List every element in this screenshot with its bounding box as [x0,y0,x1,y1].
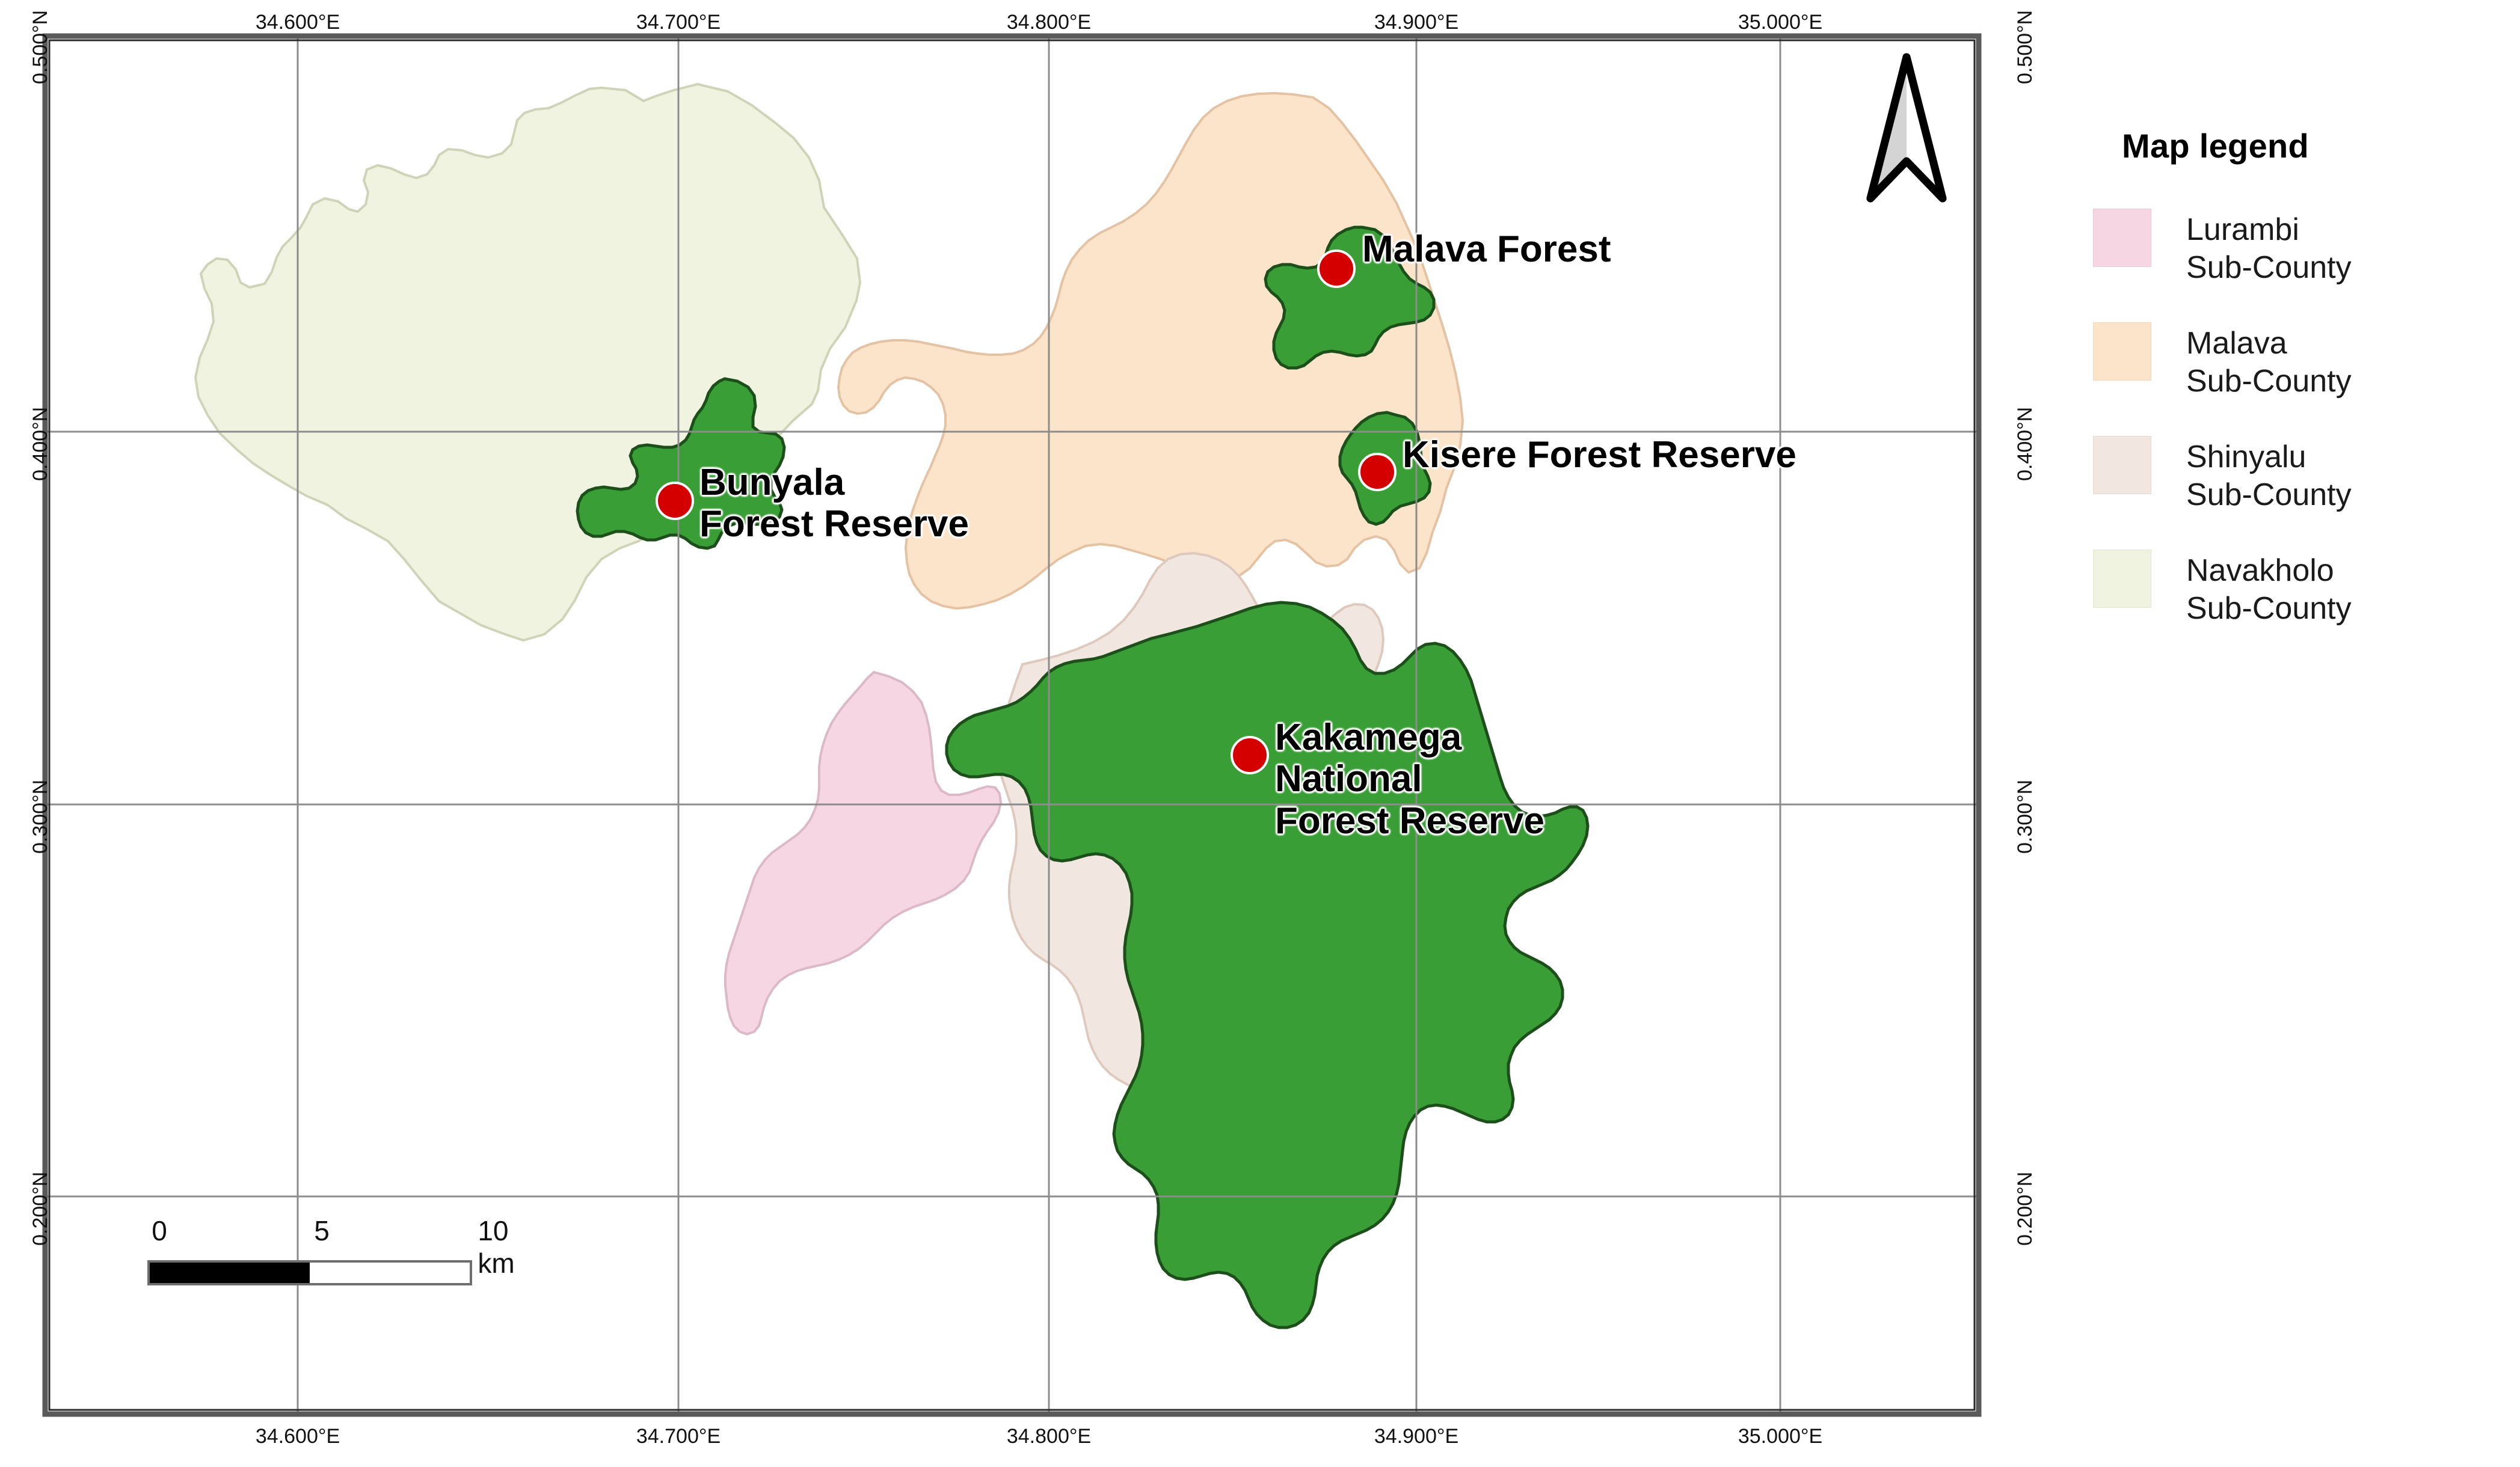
legend-label-navakholo: Navakholo Sub-County [2186,550,2352,628]
legend-item-lurambi[interactable]: Lurambi Sub-County [2093,209,2514,287]
tick-right-1: 0.400°N [2014,407,2037,481]
legend-swatch-lurambi [2093,209,2151,267]
legend-label-shinyalu: Shinyalu Sub-County [2186,436,2352,515]
tick-left-3: 0.200°N [29,1172,52,1246]
tick-right-0: 0.500°N [2014,10,2037,84]
tick-top-1: 34.700°E [636,11,721,34]
map-figure: 34.600°E 34.700°E 34.800°E 34.900°E 35.0… [0,0,2520,1467]
tick-top-0: 34.600°E [256,11,340,34]
legend-item-navakholo[interactable]: Navakholo Sub-County [2093,550,2514,628]
map-label-kakamega-national-forest-reserve: Kakamega National Forest Reserve [1275,717,1544,842]
marker-kisere-forest-reserve[interactable] [1359,454,1395,490]
tick-top-2: 34.800°E [1007,11,1091,34]
scale-tick-5: 5 [314,1214,330,1247]
scale-bar-labels: 0 5 10 km [147,1214,472,1249]
legend-swatch-navakholo [2093,550,2151,608]
tick-right-2: 0.300°N [2014,780,2037,854]
marker-bunyala-forest-reserve[interactable] [657,483,693,519]
legend-swatch-malava [2093,322,2151,381]
tick-top-3: 34.900°E [1374,11,1458,34]
scale-bar-track [147,1260,472,1285]
tick-bottom-1: 34.700°E [636,1425,721,1448]
map-label-bunyala-forest-reserve: Bunyala Forest Reserve [699,462,969,545]
legend-title: Map legend [2122,126,2514,165]
scale-bar: 0 5 10 km [147,1214,472,1285]
tick-right-3: 0.200°N [2014,1172,2037,1246]
tick-bottom-4: 35.000°E [1738,1425,1822,1448]
scale-bar-fill [150,1263,310,1283]
map-label-kisere-forest-reserve: Kisere Forest Reserve [1403,434,1796,476]
map-label-malava-forest: Malava Forest [1362,228,1611,270]
map-legend: Map legend Lurambi Sub-County Malava Sub… [2093,126,2514,663]
scale-tick-0: 0 [152,1214,167,1247]
legend-item-malava[interactable]: Malava Sub-County [2093,322,2514,401]
tick-left-2: 0.300°N [29,780,52,854]
marker-kakamega-national-forest-reserve[interactable] [1232,737,1268,773]
tick-top-4: 35.000°E [1738,11,1822,34]
scale-tick-10: 10 km [478,1214,514,1279]
legend-item-shinyalu[interactable]: Shinyalu Sub-County [2093,436,2514,515]
tick-bottom-0: 34.600°E [256,1425,340,1448]
legend-swatch-shinyalu [2093,436,2151,494]
tick-bottom-2: 34.800°E [1007,1425,1091,1448]
tick-left-1: 0.400°N [29,407,52,481]
tick-bottom-3: 34.900°E [1374,1425,1458,1448]
marker-malava-forest[interactable] [1318,251,1354,287]
tick-left-0: 0.500°N [29,10,52,84]
legend-label-malava: Malava Sub-County [2186,322,2352,401]
legend-label-lurambi: Lurambi Sub-County [2186,209,2352,287]
